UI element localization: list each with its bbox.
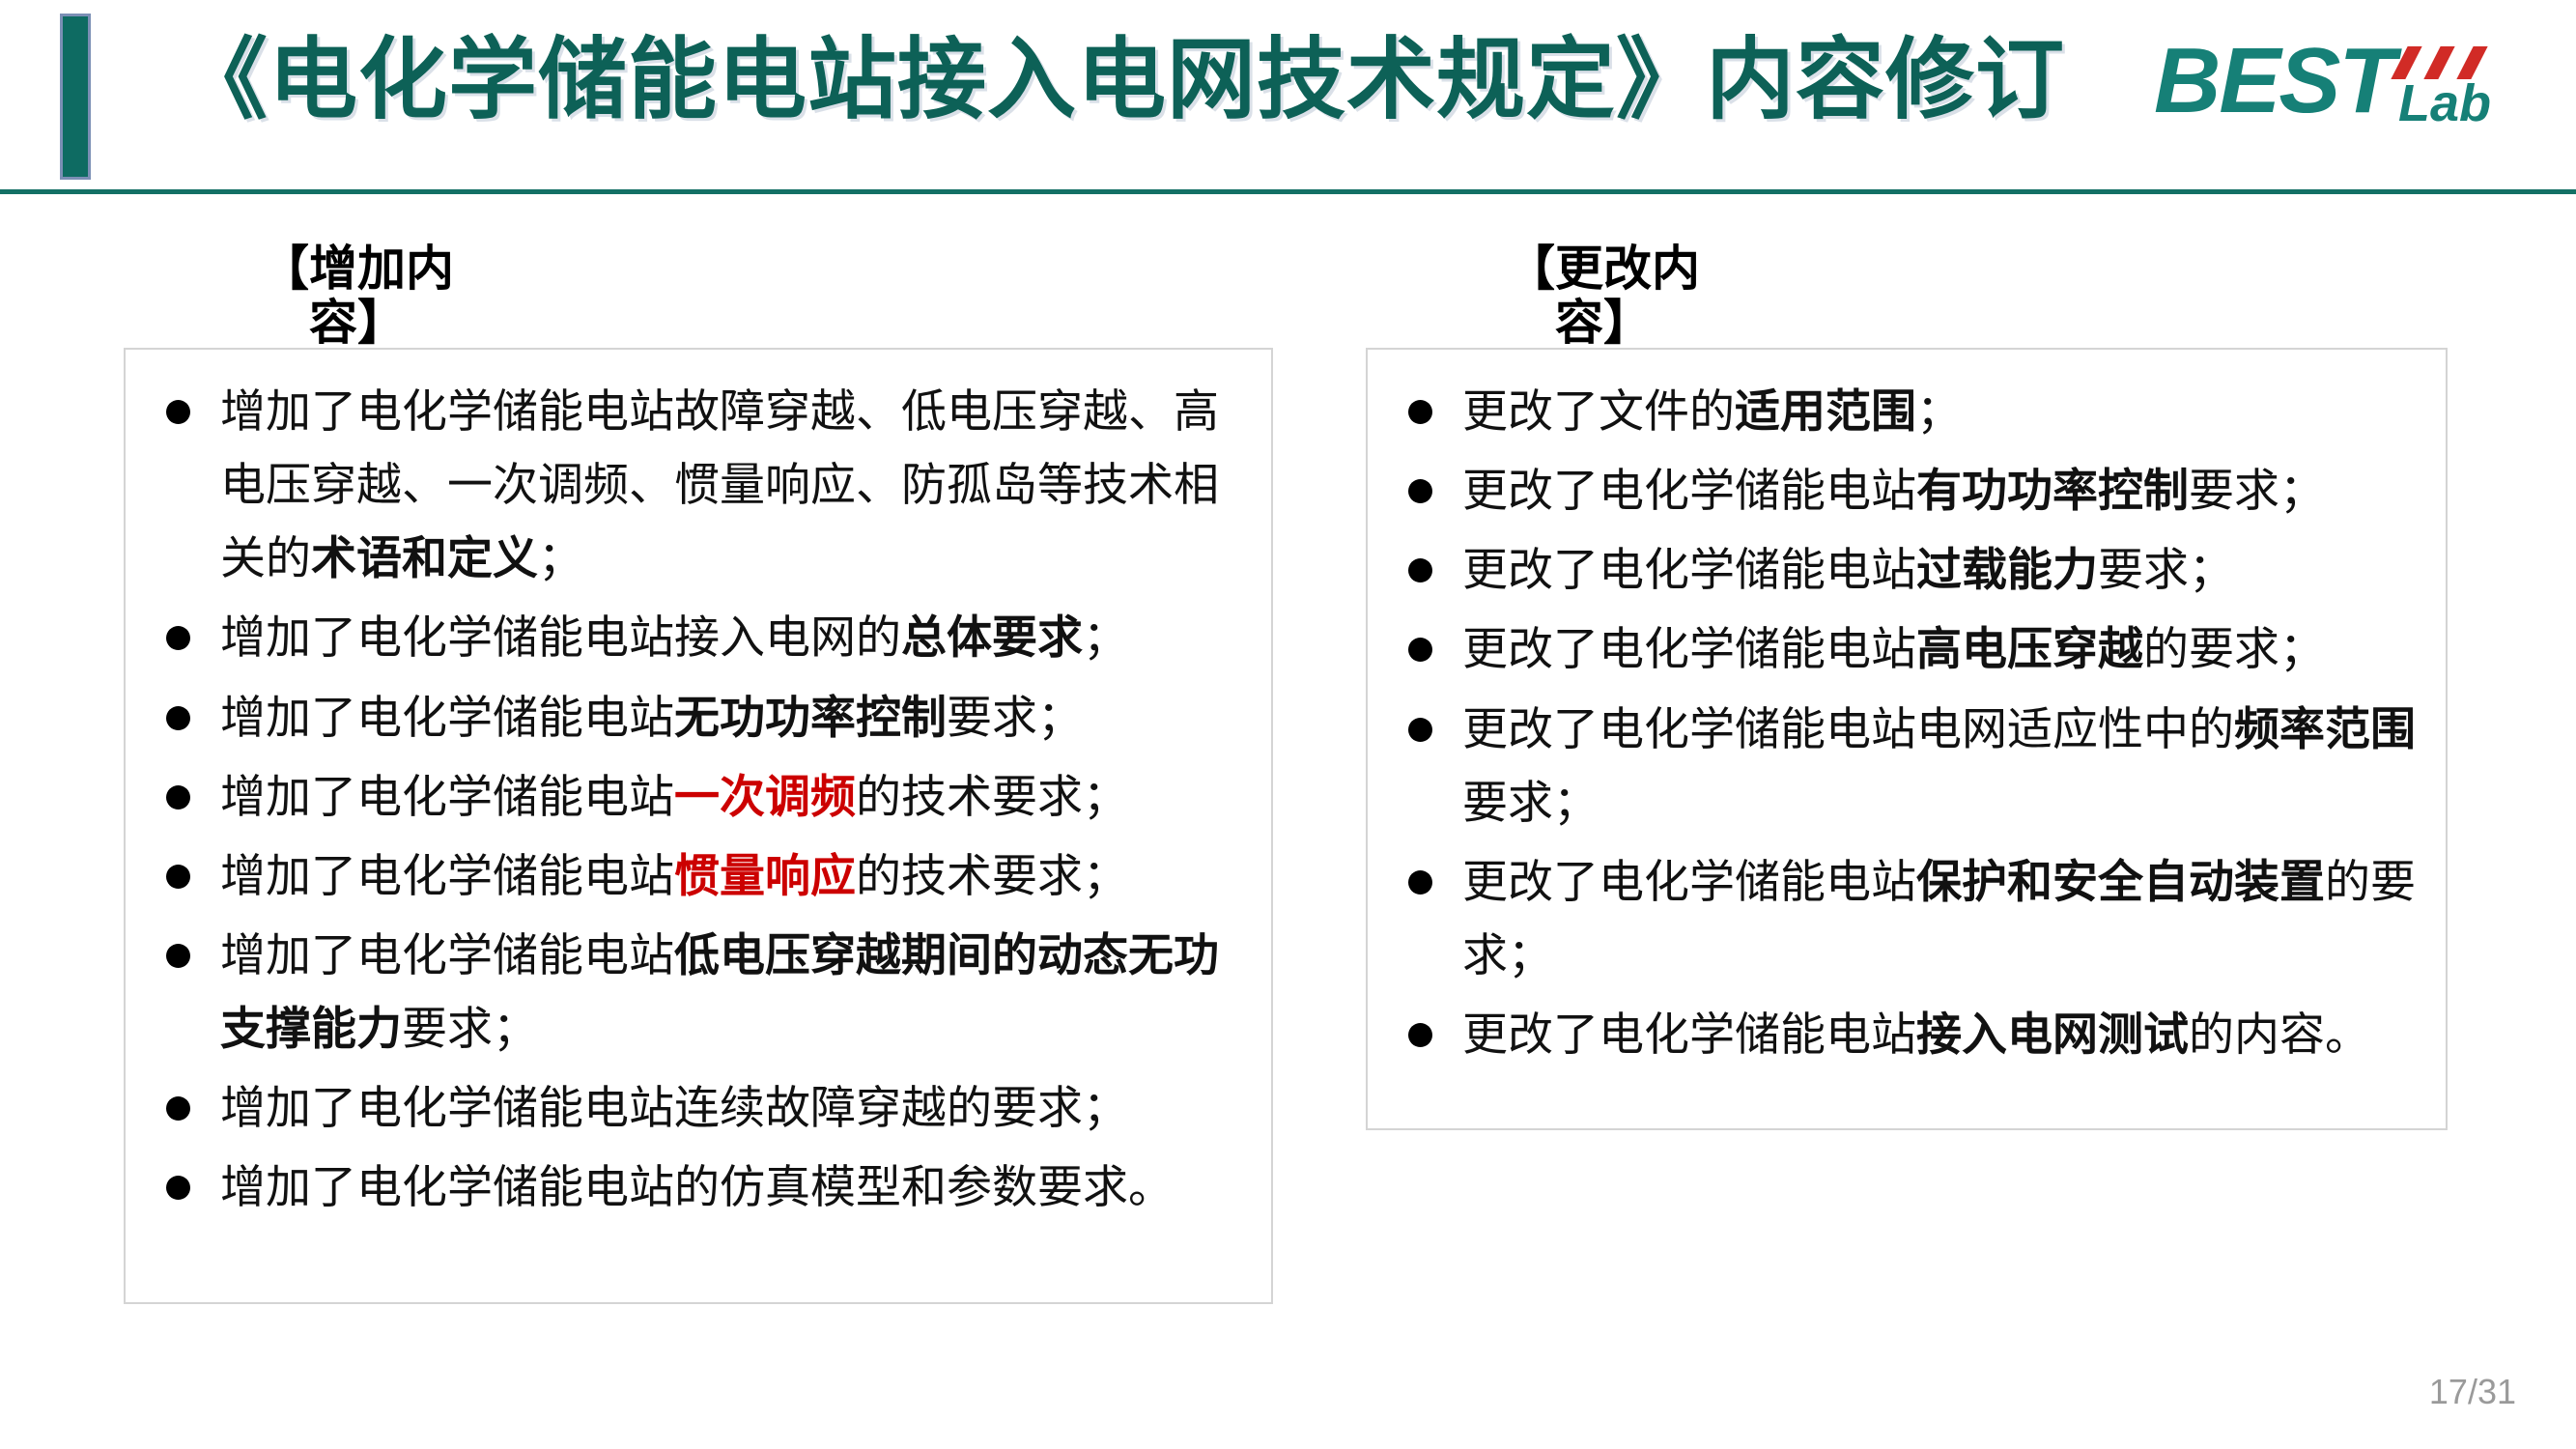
emphasis-text: 高电压穿越 bbox=[1916, 623, 2143, 674]
body-text: 增加了电化学储能电站接入电网的 bbox=[220, 611, 901, 663]
left-column-heading: 【增加内容】 bbox=[232, 241, 483, 350]
title-accent-bar bbox=[60, 14, 91, 180]
logo-sub-wordmark: Lab bbox=[2398, 77, 2491, 129]
best-lab-logo: BEST Lab bbox=[2154, 27, 2511, 153]
emphasis-text: 适用范围 bbox=[1735, 385, 1916, 437]
body-text: ； bbox=[1083, 611, 1128, 663]
emphasis-text: 频率范围 bbox=[2234, 703, 2416, 754]
body-text: 增加了电化学储能电站的仿真模型和参数要求。 bbox=[220, 1161, 1174, 1212]
emphasis-text: 无功功率控制 bbox=[674, 692, 947, 743]
body-text: 增加了电化学储能电站连续故障穿越的要求； bbox=[220, 1082, 1128, 1133]
body-text: 要求； bbox=[2098, 544, 2234, 595]
list-item: 更改了电化学储能电站有功功率控制要求； bbox=[1393, 454, 2419, 527]
page-number: 17/31 bbox=[2429, 1372, 2516, 1412]
body-text: 要求； bbox=[402, 1003, 538, 1054]
changed-content-list: 更改了文件的适用范围；更改了电化学储能电站有功功率控制要求；更改了电化学储能电站… bbox=[1368, 350, 2446, 1096]
changed-content-box: 更改了文件的适用范围；更改了电化学储能电站有功功率控制要求；更改了电化学储能电站… bbox=[1366, 348, 2448, 1130]
body-text: ； bbox=[1916, 385, 1962, 437]
page-title: 《电化学储能电站接入电网技术规定》内容修订 bbox=[179, 25, 2065, 136]
logo-wordmark: BEST bbox=[2154, 35, 2393, 128]
emphasis-text: 保护和安全自动装置 bbox=[1916, 856, 2325, 907]
list-item: 增加了电化学储能电站故障穿越、低电压穿越、高电压穿越、一次调频、惯量响应、防孤岛… bbox=[151, 375, 1244, 595]
body-text: 更改了电化学储能电站 bbox=[1462, 1009, 1916, 1060]
highlight-text: 惯量响应 bbox=[674, 850, 856, 901]
list-item: 增加了电化学储能电站的仿真模型和参数要求。 bbox=[151, 1151, 1244, 1224]
body-text: 的内容。 bbox=[2189, 1009, 2370, 1060]
list-item: 增加了电化学储能电站惯量响应的技术要求； bbox=[151, 839, 1244, 913]
body-text: 增加了电化学储能电站 bbox=[220, 692, 674, 743]
list-item: 更改了电化学储能电站接入电网测试的内容。 bbox=[1393, 998, 2419, 1071]
body-text: 更改了电化学储能电站 bbox=[1462, 623, 1916, 674]
body-text: 要求； bbox=[947, 692, 1083, 743]
list-item: 更改了电化学储能电站过载能力要求； bbox=[1393, 533, 2419, 607]
list-item: 增加了电化学储能电站低电压穿越期间的动态无功支撑能力要求； bbox=[151, 919, 1244, 1065]
emphasis-text: 过载能力 bbox=[1916, 544, 2098, 595]
header-divider bbox=[0, 189, 2576, 194]
list-item: 增加了电化学储能电站接入电网的总体要求； bbox=[151, 601, 1244, 674]
body-text: 更改了文件的 bbox=[1462, 385, 1735, 437]
emphasis-text: 术语和定义 bbox=[311, 532, 538, 583]
body-text: 更改了电化学储能电站 bbox=[1462, 544, 1916, 595]
added-content-list: 增加了电化学储能电站故障穿越、低电压穿越、高电压穿越、一次调频、惯量响应、防孤岛… bbox=[126, 350, 1271, 1249]
list-item: 更改了电化学储能电站保护和安全自动装置的要求； bbox=[1393, 845, 2419, 992]
list-item: 更改了电化学储能电站高电压穿越的要求； bbox=[1393, 612, 2419, 686]
list-item: 增加了电化学储能电站一次调频的技术要求； bbox=[151, 760, 1244, 834]
emphasis-text: 有功功率控制 bbox=[1916, 465, 2189, 516]
body-text: 更改了电化学储能电站电网适应性中的 bbox=[1462, 703, 2234, 754]
right-column-heading: 【更改内容】 bbox=[1478, 241, 1729, 350]
body-text: 更改了电化学储能电站 bbox=[1462, 465, 1916, 516]
list-item: 更改了电化学储能电站电网适应性中的频率范围要求； bbox=[1393, 693, 2419, 839]
emphasis-text: 接入电网测试 bbox=[1916, 1009, 2189, 1060]
body-text: 增加了电化学储能电站 bbox=[220, 850, 674, 901]
emphasis-text: 总体要求 bbox=[901, 611, 1083, 663]
body-text: 要求； bbox=[1462, 777, 1599, 828]
body-text: 增加了电化学储能电站 bbox=[220, 771, 674, 822]
list-item: 增加了电化学储能电站连续故障穿越的要求； bbox=[151, 1071, 1244, 1145]
slide: 《电化学储能电站接入电网技术规定》内容修订 BEST Lab 【增加内容】 增加… bbox=[0, 0, 2576, 1449]
body-text: 的技术要求； bbox=[856, 850, 1128, 901]
list-item: 增加了电化学储能电站无功功率控制要求； bbox=[151, 681, 1244, 754]
body-text: 更改了电化学储能电站 bbox=[1462, 856, 1916, 907]
body-text: ； bbox=[538, 532, 583, 583]
body-text: 增加了电化学储能电站 bbox=[220, 929, 674, 980]
body-text: 要求； bbox=[2189, 465, 2325, 516]
added-content-box: 增加了电化学储能电站故障穿越、低电压穿越、高电压穿越、一次调频、惯量响应、防孤岛… bbox=[124, 348, 1273, 1304]
list-item: 更改了文件的适用范围； bbox=[1393, 375, 2419, 448]
highlight-text: 一次调频 bbox=[674, 771, 856, 822]
body-text: 的技术要求； bbox=[856, 771, 1128, 822]
body-text: 的要求； bbox=[2143, 623, 2325, 674]
